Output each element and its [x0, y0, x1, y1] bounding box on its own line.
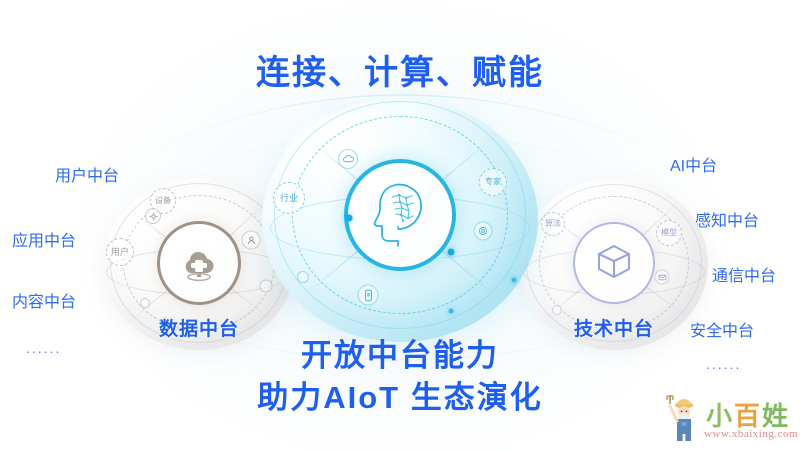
- left-label-0: 用户中台: [55, 162, 119, 186]
- poster-canvas: 连接、计算、赋能 用户中台 应用中台 内容中台 ...... AI中台 感知中台…: [0, 0, 800, 450]
- dot-icon: [297, 271, 309, 283]
- right-label-1: 感知中台: [695, 207, 759, 231]
- cloud-database-icon: [177, 240, 221, 287]
- footer-line-1: 开放中台能力: [0, 330, 800, 375]
- center-ring-node-left: [346, 215, 353, 222]
- left-label-2: 内容中台: [12, 288, 76, 312]
- center-orbit-node-b: [449, 309, 454, 314]
- cloud-icon: [338, 149, 358, 169]
- person-icon: [242, 231, 261, 250]
- right-badge-model: 模型: [656, 220, 682, 246]
- mail-icon: [655, 270, 670, 285]
- right-core-circle[interactable]: [573, 222, 655, 304]
- center-core-circle[interactable]: [344, 159, 456, 271]
- dot-icon: [140, 298, 150, 308]
- gear-icon: [145, 208, 161, 224]
- center-ring-node-right: [448, 249, 455, 256]
- right-badge-algorithm: 算法: [541, 212, 565, 236]
- farmer-mascot-icon: [662, 394, 702, 442]
- device-icon: [358, 285, 379, 306]
- left-label-1: 应用中台: [12, 227, 76, 251]
- watermark: 小 百 姓 www.xbaixing.com: [660, 392, 798, 446]
- center-badge-expert: 专家: [479, 168, 507, 196]
- left-core-circle[interactable]: [157, 221, 241, 305]
- right-label-2: 通信中台: [712, 262, 776, 286]
- center-badge-industry: 行业: [273, 182, 305, 214]
- dot-icon: [552, 305, 562, 315]
- circle-icon: [260, 280, 273, 293]
- watermark-url: www.xbaixing.com: [704, 428, 798, 440]
- center-orbit-node-a: [512, 278, 517, 283]
- right-label-0: AI中台: [670, 152, 717, 176]
- target-icon: [474, 222, 493, 241]
- cube-3d-icon: [592, 239, 636, 288]
- left-badge-user: 用户: [106, 238, 134, 266]
- ai-head-brain-icon: [365, 175, 435, 256]
